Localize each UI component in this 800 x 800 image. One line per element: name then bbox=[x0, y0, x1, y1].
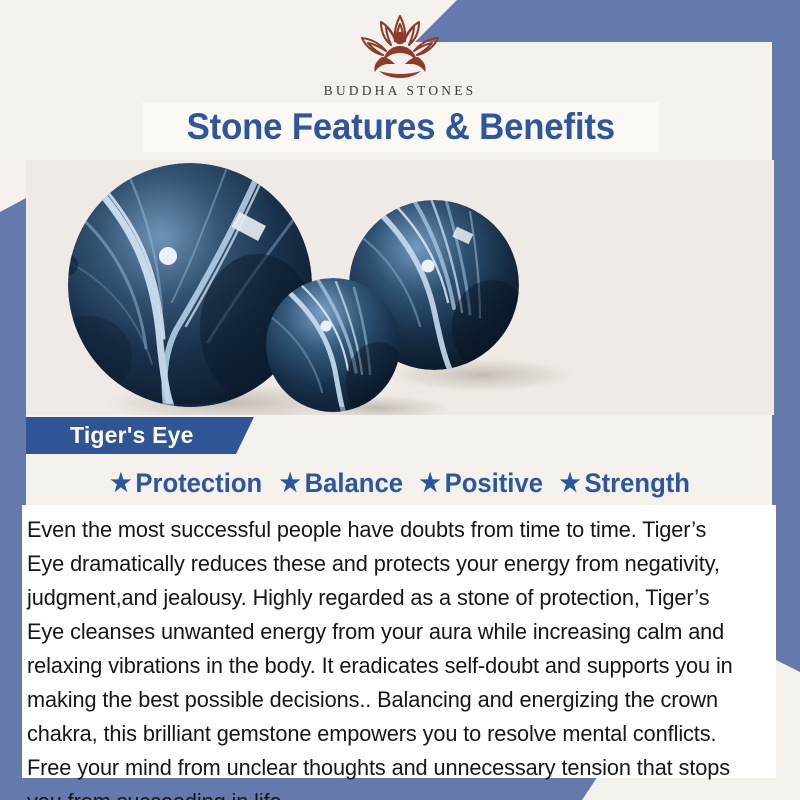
description-text: Even the most successful people have dou… bbox=[27, 513, 740, 800]
benefit-item-balance: ★ Balance bbox=[280, 468, 413, 499]
star-icon: ★ bbox=[420, 471, 441, 496]
poster-canvas: BUDDHA STONES Stone Features & Benefits bbox=[0, 0, 800, 800]
stone-name-label: Tiger's Eye bbox=[26, 422, 194, 449]
brand-logo: BUDDHA STONES bbox=[0, 8, 800, 99]
stone-name-banner: Tiger's Eye bbox=[26, 417, 254, 454]
description-panel: Even the most successful people have dou… bbox=[22, 505, 776, 778]
benefit-label: Strength bbox=[585, 468, 690, 499]
benefit-label: Positive bbox=[445, 468, 543, 499]
benefit-label: Protection bbox=[136, 468, 263, 499]
brand-wordmark: BUDDHA STONES bbox=[0, 83, 800, 99]
star-icon: ★ bbox=[280, 471, 301, 496]
star-icon: ★ bbox=[111, 471, 132, 496]
lotus-meditation-icon bbox=[337, 8, 463, 82]
title-band: Stone Features & Benefits bbox=[143, 102, 659, 152]
benefit-item-positive: ★ Positive bbox=[420, 468, 553, 499]
benefits-row: ★ Protection ★ Balance ★ Positive ★ Stre… bbox=[26, 462, 774, 504]
right-edge-accent-strip bbox=[772, 0, 800, 672]
star-icon: ★ bbox=[560, 471, 581, 496]
benefit-label: Balance bbox=[305, 468, 403, 499]
benefit-item-strength: ★ Strength bbox=[560, 468, 691, 499]
benefit-item-protection: ★ Protection bbox=[111, 468, 272, 499]
page-title: Stone Features & Benefits bbox=[187, 106, 615, 148]
blue-tigers-eye-spheres-photo bbox=[26, 160, 774, 415]
